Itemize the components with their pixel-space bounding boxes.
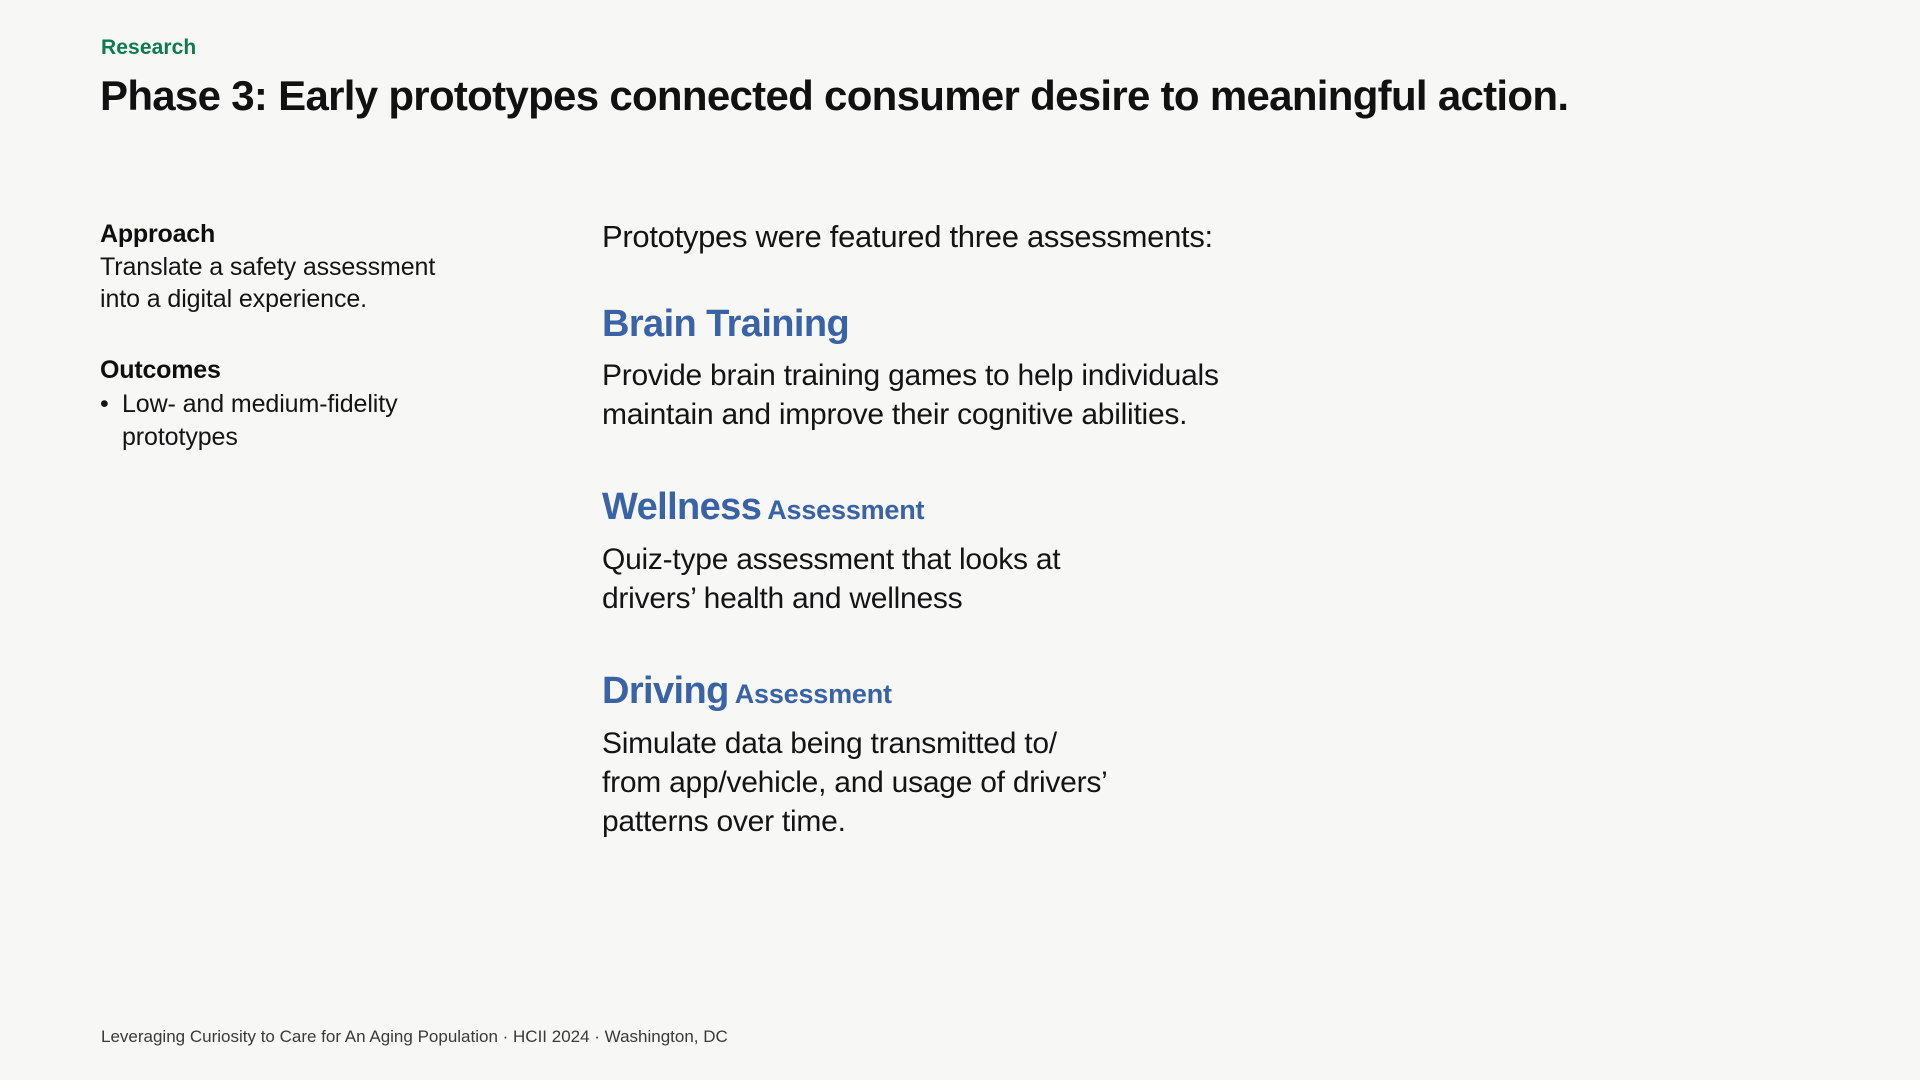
outcomes-bullet-list: • Low- and medium-fidelity prototypes (100, 388, 530, 454)
bullet-dot-icon: • (100, 388, 122, 454)
assessment-title-sub: Assessment (767, 495, 924, 525)
assessment-description: Quiz-type assessment that looks at drive… (602, 540, 1502, 618)
page-title: Phase 3: Early prototypes connected cons… (100, 72, 1568, 120)
assessment-description: Provide brain training games to help ind… (602, 356, 1502, 434)
list-item-line-2: prototypes (122, 423, 238, 451)
assessment-title-sub: Assessment (735, 679, 892, 709)
assessment-description-line-2: from app/vehicle, and usage of drivers’ (602, 763, 1502, 802)
assessment-block-driving: DrivingAssessment Simulate data being tr… (602, 670, 1502, 841)
right-column: Prototypes were featured three assessmen… (602, 218, 1502, 841)
assessment-title-main: Brain Training (602, 303, 849, 345)
assessment-description-line-1: Provide brain training games to help ind… (602, 356, 1502, 395)
outcomes-heading: Outcomes (100, 354, 530, 387)
assessments-intro-text: Prototypes were featured three assessmen… (602, 218, 1502, 257)
assessment-description-line-1: Simulate data being transmitted to/ (602, 724, 1502, 763)
approach-body-line-1: Translate a safety assessment (100, 251, 530, 284)
column-spacer (100, 316, 530, 354)
left-column: Approach Translate a safety assessment i… (100, 218, 530, 454)
list-item-line-1: Low- and medium-fidelity (122, 390, 398, 418)
assessment-title: Brain Training (602, 303, 1502, 347)
assessment-block-wellness: WellnessAssessment Quiz-type assessment … (602, 486, 1502, 618)
assessment-title: DrivingAssessment (602, 670, 1502, 714)
approach-body-line-2: into a digital experience. (100, 283, 530, 316)
approach-heading: Approach (100, 218, 530, 251)
assessment-title-main: Wellness (602, 486, 761, 528)
list-item: • Low- and medium-fidelity prototypes (100, 388, 530, 454)
slide-footer-text: Leveraging Curiosity to Care for An Agin… (101, 1027, 728, 1047)
list-item-text: Low- and medium-fidelity prototypes (122, 388, 530, 454)
assessment-title-main: Driving (602, 670, 729, 712)
assessment-description-line-2: drivers’ health and wellness (602, 579, 1502, 618)
assessment-description: Simulate data being transmitted to/ from… (602, 724, 1502, 841)
assessment-block-brain-training: Brain Training Provide brain training ga… (602, 303, 1502, 435)
section-eyebrow-label: Research (101, 36, 196, 60)
assessment-description-line-2: maintain and improve their cognitive abi… (602, 395, 1502, 434)
slide-root: Research Phase 3: Early prototypes conne… (0, 0, 1920, 1080)
assessment-title: WellnessAssessment (602, 486, 1502, 530)
approach-body: Translate a safety assessment into a dig… (100, 251, 530, 316)
assessment-description-line-3: patterns over time. (602, 802, 1502, 841)
assessment-description-line-1: Quiz-type assessment that looks at (602, 540, 1502, 579)
